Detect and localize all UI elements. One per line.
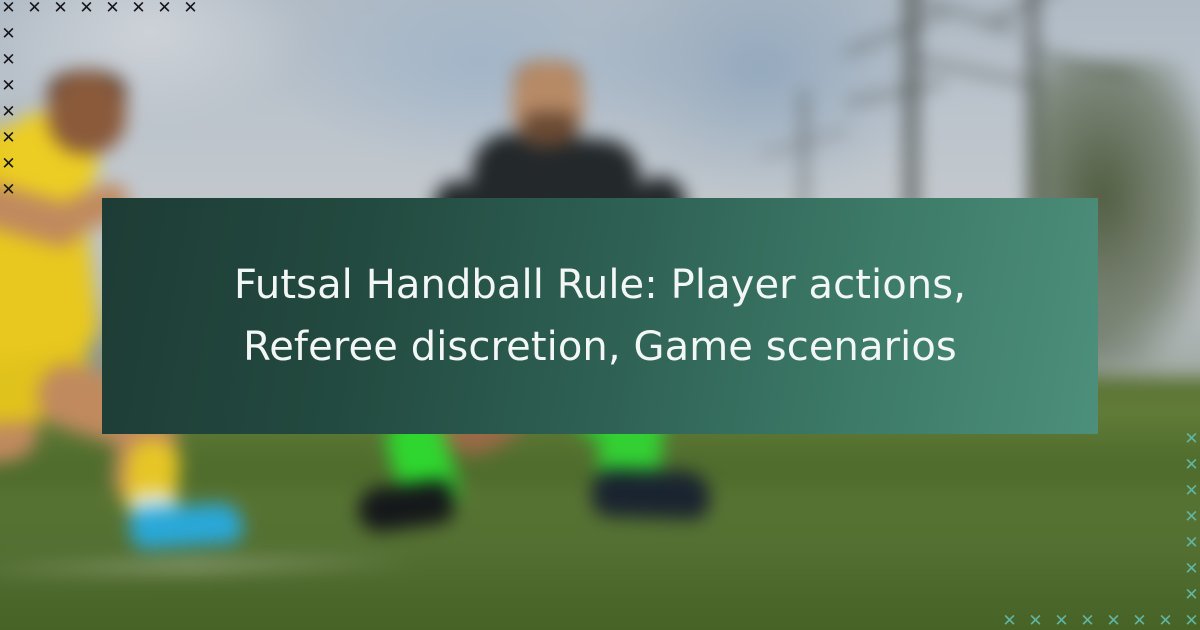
title-overlay-band: Futsal Handball Rule: Player actions, Re…	[102, 198, 1098, 434]
yellow-player-head	[48, 72, 126, 154]
dark-player-beard	[522, 112, 578, 146]
share-card-canvas: ✕✕✕✕✕✕✕✕✕✕✕✕✕✕✕ ✕✕✕✕✕✕✕✕✕✕✕✕✕✕✕ Futsal H…	[0, 0, 1200, 630]
yellow-player-boot	[129, 502, 244, 550]
page-title: Futsal Handball Rule: Player actions, Re…	[170, 254, 1030, 378]
dark-player-right-boot	[591, 468, 711, 520]
pitch-marking-line	[0, 555, 420, 577]
